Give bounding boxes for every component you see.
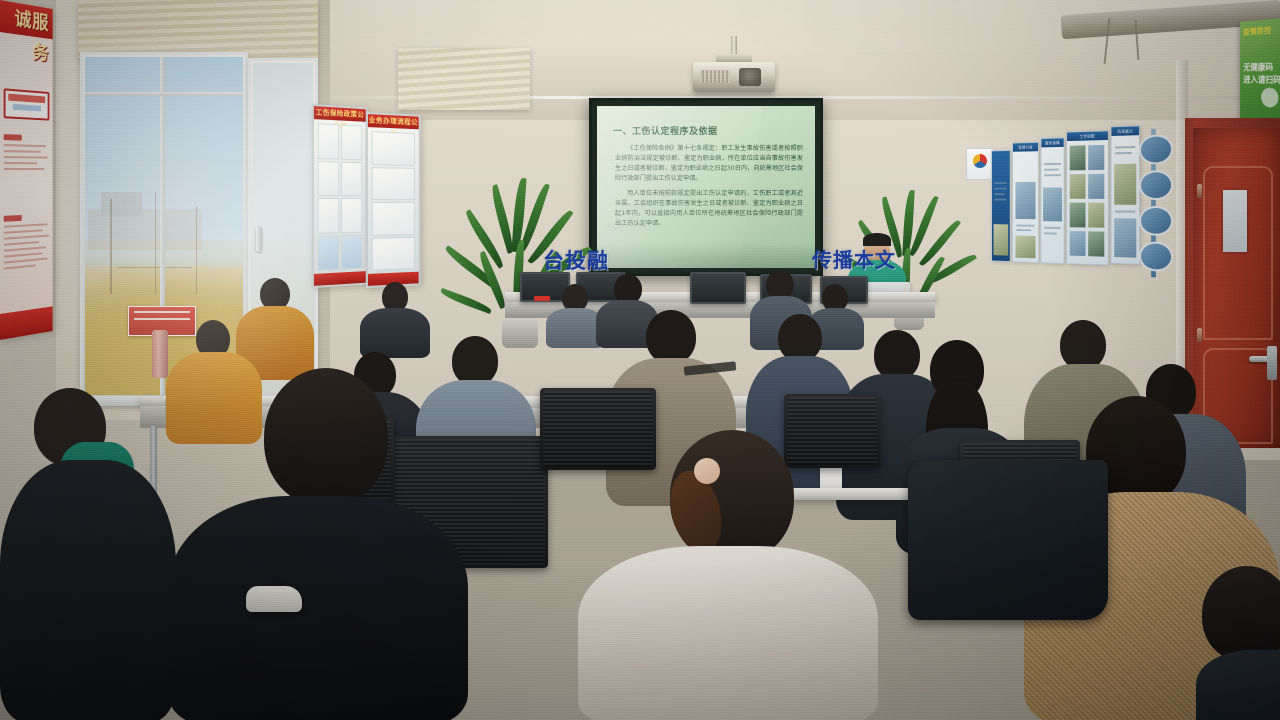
bulletin-panel-header-text: 工作掠影: [1067, 131, 1108, 141]
notice-board-2: 业务办理流程公示: [366, 112, 420, 288]
projection-screen: 一、工伤认定程序及依据 《工伤保险条例》第十七条规定：职工发生事故伤害或者按照职…: [589, 98, 823, 276]
watermark-right: 传播本文: [812, 244, 896, 273]
watermark-left: 台投融: [543, 245, 609, 275]
notice-board-1: 工伤保险政策公示栏: [312, 104, 367, 288]
slide-body: 《工伤保险条例》第十七条规定：职工发生事故伤害或者按照职业病防治法规定被诊断、鉴…: [615, 144, 803, 234]
window-handle[interactable]: [256, 226, 262, 252]
bulletin-panel-header: 服务保障: [1041, 138, 1063, 147]
covid-notice-poster: 疫情防控 无健康码 进入请扫码: [1240, 18, 1280, 130]
bulletin-panel-header-text: 党建引领: [1013, 143, 1038, 152]
door-lock-icon[interactable]: [1267, 346, 1277, 380]
poster-header-text: 诚服务: [0, 0, 53, 70]
bulletin-panel-header: 党建引领: [1013, 143, 1038, 152]
audience-member-foreground: [578, 430, 878, 720]
projector: [693, 62, 775, 92]
projector-lens-icon: [739, 68, 761, 86]
window-blinds-upper: [78, 0, 318, 58]
projector-vent: [700, 70, 730, 83]
slide-surface: 一、工伤认定程序及依据 《工伤保险条例》第十七条规定：职工发生事故伤害或者按照职…: [597, 106, 815, 268]
bulletin-banner: [991, 150, 1010, 262]
window-blinds-right: [398, 48, 530, 110]
qr-code-icon: [1261, 88, 1278, 108]
slide-title: 一、工伤认定程序及依据: [613, 124, 718, 137]
audience-member-foreground: [168, 368, 468, 720]
shoe: [246, 586, 302, 612]
poster-text-block-2: [0, 204, 51, 270]
slide-paragraph: 用人单位未按前款规定提出工伤认定申请的，工伤职工或者其近亲属、工会组织在事故伤害…: [615, 189, 803, 229]
bulletin-panel: 党建引领: [1012, 142, 1039, 263]
bulletin-emblem-icon: [966, 148, 994, 180]
training-room-photo: 诚服务 工伤保险政策公示栏: [0, 0, 1280, 720]
hair-tie: [694, 458, 720, 484]
bulletin-panel: 服务保障: [1041, 137, 1065, 264]
wall-poster-service: 诚服务: [0, 0, 53, 340]
draped-jacket: [908, 460, 1108, 620]
slide-paragraph: 《工伤保险条例》第十七条规定：职工发生事故伤害或者按照职业病防治法规定被诊断、鉴…: [615, 144, 803, 184]
poster-badge: [4, 88, 50, 120]
bulletin-panel: 工作掠影: [1066, 130, 1109, 265]
covid-poster-title: 疫情防控: [1243, 25, 1271, 38]
screen-shadow: [597, 242, 815, 268]
door-vision-panel: [1223, 190, 1247, 252]
notice-board-header: 工伤保险政策公示栏: [314, 106, 366, 122]
notice-board-header: 业务办理流程公示: [368, 114, 419, 129]
monitor: [690, 272, 746, 304]
poster-text-block-1: [0, 124, 51, 170]
covid-poster-subtitle: 无健康码 进入请扫码: [1243, 62, 1280, 88]
decorative-dna-column: [1135, 128, 1173, 278]
audience-member-foreground: [1196, 566, 1280, 720]
bulletin-panel-header-text: 服务保障: [1041, 138, 1063, 147]
bulletin-panel-header: 工作掠影: [1067, 131, 1108, 141]
